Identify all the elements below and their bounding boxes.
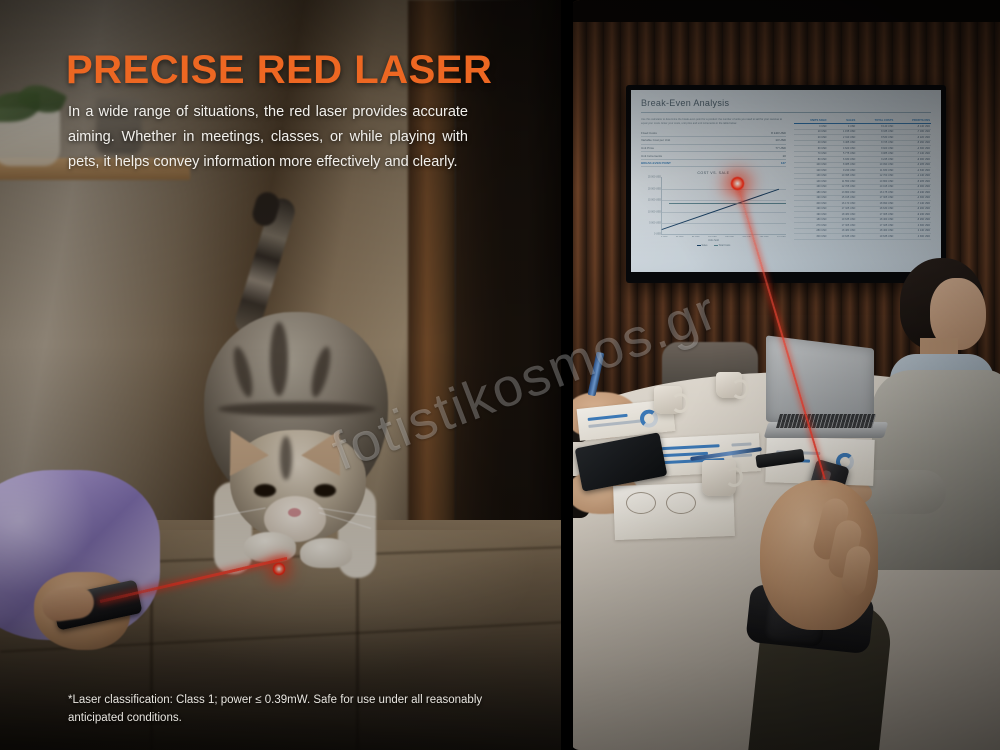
y-tick: 25 000 USD xyxy=(648,176,662,179)
slide-left-column: Use this calculator to determine the bre… xyxy=(641,118,786,247)
chart-title: COST VS. SALE xyxy=(641,171,786,175)
input-label: Unit Price xyxy=(641,146,654,150)
inputs-list: Fixed Costs 8 140 USD Variable Cost per … xyxy=(641,130,786,168)
cat-forehead-stripe xyxy=(280,436,292,480)
table-cell: 19 635 USD xyxy=(828,234,857,240)
title-rule xyxy=(641,112,931,113)
series-line-sales xyxy=(662,189,780,231)
x-tick: 50 USD xyxy=(676,236,684,238)
cat-paw xyxy=(244,532,296,562)
cat-paw xyxy=(300,538,352,568)
cat-stripe xyxy=(270,322,288,396)
x-tick: 0 USD xyxy=(661,236,667,238)
slide-title: Break-Even Analysis xyxy=(641,98,931,108)
input-row: Unit Price 77 USD xyxy=(641,145,786,153)
cat-eye xyxy=(314,484,336,497)
cat-stripe xyxy=(218,402,376,416)
laptop-keyboard[interactable] xyxy=(776,414,876,428)
coffee-mug xyxy=(716,372,742,398)
coffee-mug xyxy=(702,460,736,496)
ceiling xyxy=(570,0,1000,22)
body-copy: In a wide range of situations, the red l… xyxy=(68,100,468,175)
x-axis-ticks: 0 USD 50 USD 80 USD 120 USD 160 USD 200 … xyxy=(661,236,786,238)
promo-banner: Break-Even Analysis Use this calculator … xyxy=(0,0,1000,750)
input-value: 13 USD xyxy=(775,138,786,142)
series-line-total-costs xyxy=(669,203,785,204)
x-tick: 270 USD xyxy=(777,236,786,238)
cost-vs-sale-plot: 25 000 USD 20 000 USD 15 000 USD 10 000 … xyxy=(661,177,786,235)
coffee-mug xyxy=(654,386,682,414)
cat-eye xyxy=(254,484,276,497)
chart-legend: Sales Total Costs xyxy=(641,244,786,247)
laser-dot xyxy=(730,176,745,191)
input-value: 77 USD xyxy=(775,146,786,150)
break-even-value: 127 xyxy=(781,161,786,165)
legal-footnote: *Laser classification: Class 1; power ≤ … xyxy=(68,692,528,728)
break-even-label: BREAK-EVEN POINT xyxy=(641,161,671,165)
x-tick: 200 USD xyxy=(742,236,751,238)
x-tick: 160 USD xyxy=(725,236,734,238)
break-even-table: UNITS SOLD SALES TOTAL COSTS PROFIT/LOSS… xyxy=(794,118,931,240)
legend-item-sales: Sales xyxy=(697,244,708,247)
right-scene-meeting: Break-Even Analysis Use this calculator … xyxy=(570,0,1000,750)
input-row: Fixed Costs 8 140 USD xyxy=(641,130,786,138)
y-tick: 20 000 USD xyxy=(648,187,662,190)
table-row: 300 USD19 635 USD19 635 USD4 300 USD xyxy=(794,234,931,240)
cat-nose xyxy=(288,508,301,517)
x-axis-label: Units Sold xyxy=(641,239,786,242)
y-tick: 5 000 USD xyxy=(649,222,662,225)
input-row: Unit Increments 10 xyxy=(641,152,786,160)
y-tick: 15 000 USD xyxy=(648,199,662,202)
slide-content: Break-Even Analysis Use this calculator … xyxy=(631,90,941,272)
input-label: Fixed Costs xyxy=(641,131,657,135)
input-value: 8 140 USD xyxy=(771,131,786,135)
display-screen: Break-Even Analysis Use this calculator … xyxy=(631,90,941,272)
input-row: Variable Cost per Unit 13 USD xyxy=(641,137,786,145)
cat xyxy=(196,196,396,586)
eyeglasses xyxy=(626,492,702,518)
slide-description: Use this calculator to determine the bre… xyxy=(641,118,786,126)
table-cell: 19 635 USD xyxy=(856,234,894,240)
laser-dot xyxy=(272,562,286,576)
x-tick: 120 USD xyxy=(708,236,717,238)
y-tick: 10 000 USD xyxy=(648,210,662,213)
page-title: PRECISE RED LASER xyxy=(66,48,492,93)
x-tick: 240 USD xyxy=(760,236,769,238)
table-cell: 4 300 USD xyxy=(894,234,931,240)
input-label: Variable Cost per Unit xyxy=(641,138,670,142)
input-label: Unit Increments xyxy=(641,154,662,158)
input-value: 10 xyxy=(783,154,786,158)
presentation-display: Break-Even Analysis Use this calculator … xyxy=(626,85,946,283)
seated-participant xyxy=(876,258,1000,558)
legend-item-total-costs: Total Costs xyxy=(714,244,731,247)
x-tick: 80 USD xyxy=(692,236,700,238)
table-cell: 300 USD xyxy=(794,234,828,240)
break-even-row: BREAK-EVEN POINT 127 xyxy=(641,160,786,168)
table-body: 0 USD0 USD8 140 USD-8 140 USD10 USD1 155… xyxy=(794,124,931,240)
slide-right-column: UNITS SOLD SALES TOTAL COSTS PROFIT/LOSS… xyxy=(794,118,931,247)
panel-divider xyxy=(561,0,573,750)
